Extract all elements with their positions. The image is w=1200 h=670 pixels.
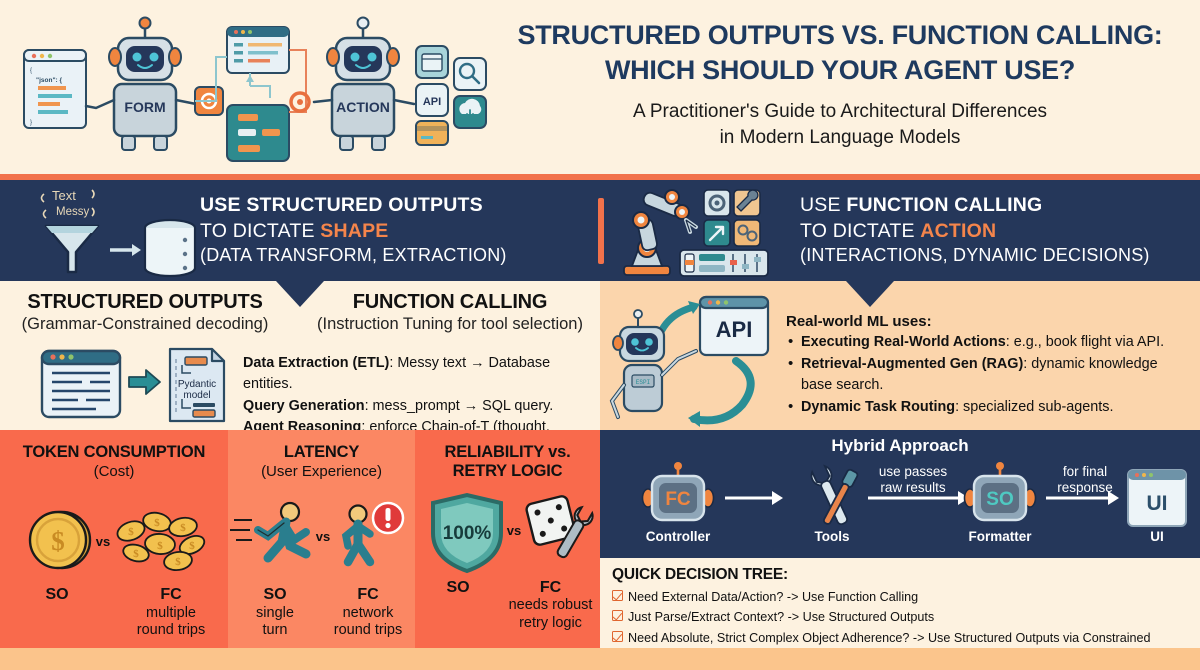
checkbox-icon: [612, 631, 623, 642]
banner-right-line-1-bold: FUNCTION CALLING: [846, 194, 1042, 216]
real-world-item: Retrieval-Augmented Gen (RAG): dynamic k…: [786, 354, 1182, 396]
banner-right-highlight: ACTION: [920, 220, 996, 242]
real-world-item: Executing Real-World Actions: e.g., book…: [786, 332, 1182, 353]
pydantic-label-line-2: model: [183, 390, 210, 401]
checkbox-icon: [612, 610, 623, 621]
banner-art-label-messy: Messy: [56, 206, 89, 218]
comparison-left-label: SO: [263, 586, 286, 603]
page-subtitle: A Practitioner's Guide to Architectural …: [490, 99, 1190, 150]
use-case-label: Query Generation: [243, 398, 365, 414]
decision-tree-heading: QUICK DECISION TREE:: [612, 566, 1188, 584]
structured-outputs-heading: STRUCTURED OUTPUTS: [10, 291, 280, 314]
infographic-page: { "json": { } FORM: [0, 0, 1200, 670]
svg-text:{: {: [30, 68, 32, 74]
page-subtitle-line-2: in Modern Language Models: [490, 125, 1190, 151]
api-window-label: API: [716, 317, 753, 342]
hero-art-svg: { "json": { } FORM: [10, 2, 490, 172]
hybrid-caption-2-line-1: for final: [1043, 464, 1127, 480]
hybrid-node-ui: UI: [1107, 527, 1200, 544]
decision-tree-item-text: Need External Data/Action? -> Use Functi…: [628, 587, 918, 607]
page-title-line-2: WHICH SHOULD YOUR AGENT USE?: [490, 53, 1190, 88]
real-world-item-text: : specialized sub-agents.: [955, 399, 1113, 415]
comparison-title: LATENCY: [228, 443, 415, 462]
shield-value-label: 100%: [443, 523, 492, 544]
use-case-item: Query Generation: mess_prompt → SQL quer…: [243, 396, 595, 417]
comparison-legend-left: SO: [0, 586, 114, 639]
structured-outputs-heading-block: STRUCTURED OUTPUTS (Grammar-Constrained …: [10, 291, 280, 334]
checkbox-icon: [612, 590, 623, 601]
comparison-right-label: FC: [540, 579, 561, 596]
comparison-title: RELIABILITY vs. RETRY LOGIC: [415, 443, 600, 481]
hybrid-node-tools: Tools: [782, 527, 882, 544]
svg-text:$: $: [128, 526, 134, 538]
comparison-card-token-consumption: TOKEN CONSUMPTION (Cost) $ vs: [0, 430, 228, 648]
comparison-card-reliability: RELIABILITY vs. RETRY LOGIC 100% vs: [415, 430, 600, 648]
banner-left-highlight: SHAPE: [320, 220, 388, 242]
comparison-legend-left: SO: [415, 579, 501, 632]
thesis-banner: Text Messy: [0, 180, 1200, 281]
decision-tree-item: Need External Data/Action? -> Use Functi…: [612, 587, 1188, 607]
hero-section: { "json": { } FORM: [0, 0, 1200, 174]
hero-robot-right-label: ACTION: [336, 99, 390, 115]
comparison-vs-label: vs: [316, 529, 330, 544]
comparison-legend-left: SO single turn: [229, 586, 322, 639]
comparison-title-line-2: RETRY LOGIC: [415, 462, 600, 481]
svg-text:$: $: [189, 540, 195, 552]
mid-section: STRUCTURED OUTPUTS (Grammar-Constrained …: [0, 281, 1200, 430]
hybrid-caption-2-line-2: response: [1043, 480, 1127, 496]
page-title: STRUCTURED OUTPUTS VS. FUNCTION CALLING:…: [490, 18, 1190, 87]
hero-text-block: STRUCTURED OUTPUTS VS. FUNCTION CALLING:…: [490, 18, 1190, 150]
comparison-legend: SO single turn FC network round trips: [228, 586, 415, 639]
hybrid-node-label: UI: [1107, 529, 1200, 544]
page-title-line-1: STRUCTURED OUTPUTS VS. FUNCTION CALLING:: [490, 18, 1190, 53]
real-world-heading: Real-world ML uses:: [786, 313, 1182, 330]
runner-comparison-illustration: vs: [228, 496, 415, 582]
real-world-item-label: Executing Real-World Actions: [801, 334, 1006, 350]
robot-chip-label: ESPI: [636, 379, 650, 386]
hero-code-snippet: "json": {: [36, 77, 62, 84]
function-calling-heading-block: FUNCTION CALLING (Instruction Tuning for…: [300, 291, 600, 334]
comparison-right-note-1: needs robust: [501, 597, 600, 614]
page-subtitle-line-1: A Practitioner's Guide to Architectural …: [490, 99, 1190, 125]
real-world-item: Dynamic Task Routing: specialized sub-ag…: [786, 397, 1182, 418]
comparison-section: TOKEN CONSUMPTION (Cost) $ vs: [0, 430, 600, 648]
hybrid-caption-1-line-2: raw results: [868, 480, 958, 496]
hybrid-approach-title: Hybrid Approach: [600, 430, 1200, 456]
hybrid-node-badge-fc: FC: [665, 489, 691, 510]
comparison-title: TOKEN CONSUMPTION: [0, 443, 228, 462]
comparison-right-note-2: round trips: [322, 622, 415, 639]
funnel-database-illustration: Text Messy: [0, 180, 200, 281]
real-world-item-text: : e.g., book flight via API.: [1006, 334, 1164, 350]
comparison-vs-label: vs: [507, 523, 521, 538]
comparison-right-note-1: network: [322, 605, 415, 622]
banner-right-line-1-prefix: USE: [800, 194, 846, 216]
hybrid-node-label: Tools: [782, 529, 882, 544]
use-case-text: : mess_prompt → SQL query.: [365, 398, 554, 414]
use-case-label: Data Extraction (ETL): [243, 355, 389, 371]
svg-text:$: $: [180, 522, 186, 534]
hybrid-caption-1: use passes raw results: [868, 464, 958, 496]
hybrid-node-formatter: Formatter: [950, 527, 1050, 544]
comparison-legend-right: FC network round trips: [322, 586, 415, 639]
real-world-uses-block: Real-world ML uses: Executing Real-World…: [786, 313, 1182, 419]
banner-right-copy: USE FUNCTION CALLING TO DICTATE ACTION (…: [800, 193, 1150, 267]
banner-right-line-3: (INTERACTIONS, DYNAMIC DECISIONS): [800, 244, 1150, 267]
comparison-title-line-1: RELIABILITY vs.: [415, 443, 600, 462]
function-calling-heading: FUNCTION CALLING: [300, 291, 600, 314]
comparison-legend: SO FC multiple round trips: [0, 586, 228, 639]
comparison-subtitle: (Cost): [0, 463, 228, 480]
banner-left-line-2: TO DICTATE SHAPE: [200, 219, 507, 244]
svg-text:$: $: [51, 526, 65, 556]
pydantic-label-line-1: Pydantic: [178, 379, 216, 390]
svg-text:}: }: [30, 120, 32, 126]
comparison-subtitle: (User Experience): [228, 463, 415, 480]
banner-right-line-1: USE FUNCTION CALLING: [800, 193, 1150, 218]
hybrid-node-badge-ui: UI: [1147, 492, 1168, 515]
comparison-legend: SO FC needs robust retry logic: [415, 579, 600, 632]
banner-art-label-text: Text: [52, 188, 76, 203]
banner-left-line-2-prefix: TO DICTATE: [200, 220, 320, 242]
comparison-vs-label: vs: [96, 534, 110, 549]
real-world-list: Executing Real-World Actions: e.g., book…: [786, 332, 1182, 418]
real-world-item-label: Retrieval-Augmented Gen (RAG): [801, 356, 1023, 372]
comparison-right-label: FC: [160, 586, 181, 603]
coin-comparison-illustration: $ vs $$$ $$$$: [0, 496, 228, 582]
comparison-left-note-1: single: [229, 605, 322, 622]
hybrid-caption-2: for final response: [1043, 464, 1127, 496]
svg-text:$: $: [133, 548, 139, 560]
svg-text:$: $: [154, 517, 160, 529]
api-robot-illustration: API ESPI: [608, 289, 778, 434]
comparison-right-note-2: retry logic: [501, 615, 600, 632]
triangle-marker-right: [846, 281, 894, 307]
function-calling-subheading: (Instruction Tuning for tool selection): [300, 315, 600, 334]
structured-outputs-subheading: (Grammar-Constrained decoding): [10, 315, 280, 334]
banner-structured-outputs: Text Messy: [0, 180, 600, 281]
hybrid-approach-section: Hybrid Approach FC: [600, 430, 1200, 558]
banner-left-line-1: USE STRUCTURED OUTPUTS: [200, 193, 507, 218]
comparison-card-latency: LATENCY (User Experience) vs: [228, 430, 415, 648]
hybrid-node-badge-so: SO: [986, 489, 1013, 510]
svg-text:$: $: [175, 556, 181, 568]
hybrid-caption-1-line-1: use passes: [868, 464, 958, 480]
banner-left-line-3: (DATA TRANSFORM, EXTRACTION): [200, 244, 507, 267]
real-world-item-label: Dynamic Task Routing: [801, 399, 955, 415]
hero-robot-left-label: FORM: [124, 99, 165, 115]
decision-tree-section: QUICK DECISION TREE: Need External Data/…: [600, 558, 1200, 648]
svg-text:$: $: [157, 540, 163, 552]
footer-strip-left: [0, 648, 600, 670]
comparison-right-label: FC: [357, 586, 378, 603]
comparison-right-note-1: multiple: [114, 605, 228, 622]
banner-right-line-2: TO DICTATE ACTION: [800, 219, 1150, 244]
hybrid-node-label: Formatter: [950, 529, 1050, 544]
banner-function-calling: USE FUNCTION CALLING TO DICTATE ACTION (…: [600, 180, 1200, 281]
comparison-right-note-2: round trips: [114, 622, 228, 639]
comparison-legend-right: FC needs robust retry logic: [501, 579, 600, 632]
comparison-legend-right: FC multiple round trips: [114, 586, 228, 639]
hero-api-badge: API: [423, 96, 441, 108]
banner-left-copy: USE STRUCTURED OUTPUTS TO DICTATE SHAPE …: [200, 193, 507, 267]
decision-tree-item-text: Just Parse/Extract Context? -> Use Struc…: [628, 607, 934, 627]
use-case-item: Data Extraction (ETL): Messy text → Data…: [243, 353, 595, 396]
decision-tree-item: Just Parse/Extract Context? -> Use Struc…: [612, 607, 1188, 627]
comparison-left-label: SO: [446, 579, 469, 596]
shield-dice-illustration: 100% vs: [415, 489, 600, 575]
robot-arm-illustration: [600, 180, 800, 281]
hybrid-node-controller: Controller: [628, 527, 728, 544]
pydantic-transform-illustration: Pydantic model: [30, 343, 230, 434]
comparison-left-note-2: turn: [229, 622, 322, 639]
hybrid-node-label: Controller: [628, 529, 728, 544]
hybrid-flow-diagram: FC: [600, 456, 1200, 554]
comparison-left-label: SO: [45, 586, 68, 603]
banner-right-line-2-prefix: TO DICTATE: [800, 220, 920, 242]
hero-illustration: { "json": { } FORM: [10, 2, 490, 172]
